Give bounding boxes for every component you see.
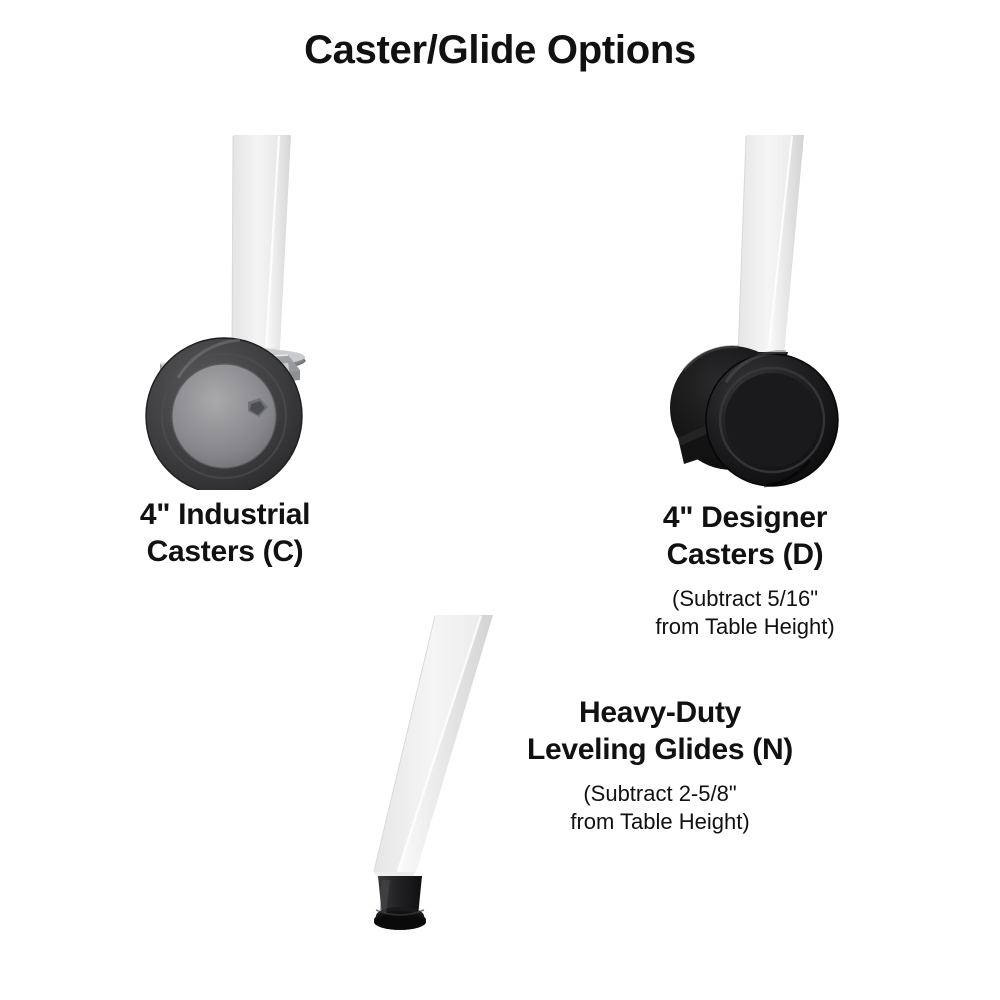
leveling-glide-label: Heavy-Duty Leveling Glides (N) — [480, 695, 840, 768]
page-title: Caster/Glide Options — [0, 28, 1000, 73]
designer-caster-front-wheel — [706, 352, 838, 486]
leveling-glide-caption: Heavy-Duty Leveling Glides (N) (Subtract… — [480, 695, 840, 837]
industrial-caster-caption: 4" Industrial Casters (C) — [55, 497, 395, 570]
table-leg — [738, 135, 804, 372]
table-leg — [374, 615, 493, 892]
table-leg — [232, 135, 291, 359]
designer-caster-caption: 4" Designer Casters (D) (Subtract 5/16" … — [575, 500, 915, 642]
leveling-glide-foot — [374, 876, 426, 930]
industrial-caster-label: 4" Industrial Casters (C) — [55, 497, 395, 570]
designer-caster-icon — [660, 120, 890, 495]
industrial-caster-icon — [120, 120, 380, 495]
designer-caster-note: (Subtract 5/16" from Table Height) — [575, 585, 915, 641]
caster-glide-options-diagram: Caster/Glide Options — [0, 0, 1000, 1000]
designer-caster-label: 4" Designer Casters (D) — [575, 500, 915, 573]
leveling-glide-note: (Subtract 2-5/8" from Table Height) — [480, 780, 840, 836]
caster-wheel — [146, 338, 302, 490]
